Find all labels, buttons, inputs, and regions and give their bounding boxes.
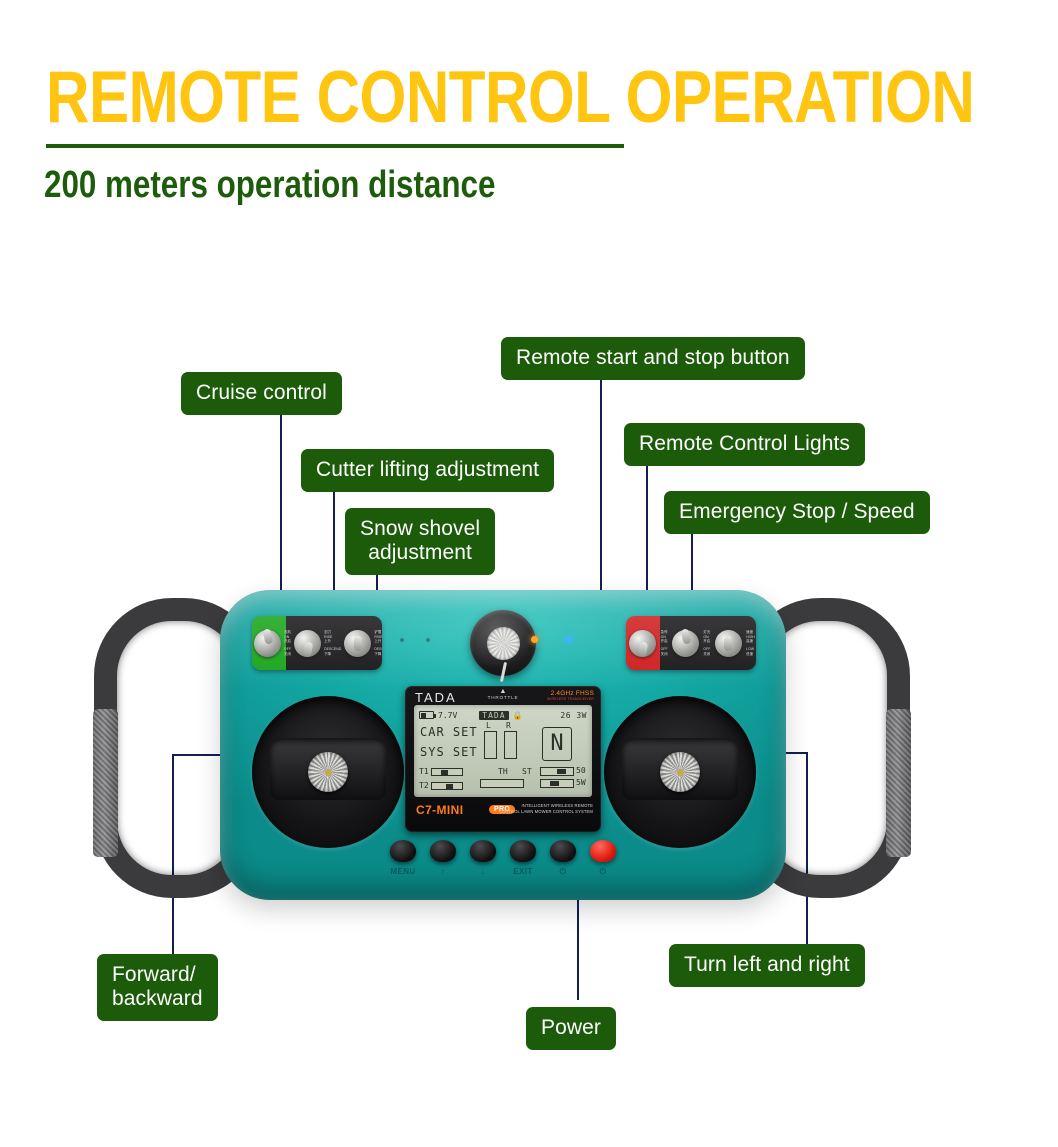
model-name: C7-MINI bbox=[416, 803, 463, 817]
lcd-trim-1: T1 bbox=[419, 767, 463, 776]
lcd-time: 26 3W bbox=[560, 711, 587, 720]
switch-label-cutter: 割刀 RISE 上升 DESCEND 下降 bbox=[324, 630, 341, 656]
battery-icon bbox=[419, 711, 434, 719]
toggle-lever bbox=[724, 636, 732, 651]
button-down-label: ↓ bbox=[470, 867, 496, 876]
lcd-th-track bbox=[480, 779, 524, 788]
switch-label-cruise: 巡航 ON 开启 OFF 关闭 bbox=[284, 630, 291, 656]
button-up-wrap: ↑ bbox=[430, 840, 456, 876]
rf-subtitle: WIRELESS TRANSCEIVER bbox=[547, 697, 594, 701]
toggle-emergency-stop[interactable] bbox=[628, 623, 658, 663]
switch-label-col-5: 灯光 ON 开启 OFF 关闭 bbox=[702, 630, 711, 656]
lock-icon: 🔒 bbox=[513, 711, 523, 720]
button-power[interactable] bbox=[590, 840, 616, 862]
lcd-trim-1-label: T1 bbox=[419, 767, 429, 776]
button-power-label: ⏻ bbox=[590, 867, 616, 877]
button-up-label: ↑ bbox=[430, 867, 456, 876]
lcd-th-label: TH bbox=[498, 767, 508, 776]
button-exit-wrap: EXIT bbox=[510, 840, 536, 876]
lcd-label-right: R bbox=[506, 721, 511, 730]
button-aux-label: ⏻ bbox=[550, 867, 576, 877]
lcd-label-left: L bbox=[486, 721, 491, 730]
lcd-menu-sys-set[interactable]: SYS SET bbox=[420, 745, 478, 759]
brand-logo-tada: TADA bbox=[415, 690, 457, 705]
grip-texture-right bbox=[886, 709, 911, 857]
button-exit-label: EXIT bbox=[510, 867, 536, 876]
callout-remote-start-stop-button[interactable]: Remote start and stop button bbox=[501, 337, 805, 380]
callout-forward-backward[interactable]: Forward/ backward bbox=[97, 954, 218, 1021]
led-indicator-blue bbox=[565, 636, 572, 643]
button-aux-wrap: ⏻ bbox=[550, 840, 576, 877]
lcd-bar-left bbox=[484, 731, 497, 759]
callout-snow-shovel-adjustment[interactable]: Snow shovel adjustment bbox=[345, 508, 495, 575]
switch-label-speed: 速度 HIGH 高速 LOW 低速 bbox=[746, 630, 755, 656]
callout-remote-control-lights[interactable]: Remote Control Lights bbox=[624, 423, 865, 466]
joystick-right-turn[interactable] bbox=[604, 696, 756, 848]
lcd-menu-car-set[interactable]: CAR SET bbox=[420, 725, 478, 739]
remote-controller-device: 巡航 ON 开启 OFF 关闭 割刀 RISE 上升 DESCEND 下降 铲雪… bbox=[92, 580, 912, 925]
button-aux[interactable] bbox=[550, 840, 576, 862]
toggle-cruise-control[interactable] bbox=[254, 623, 281, 663]
throttle-label: THROTTLE bbox=[488, 695, 519, 700]
lcd-st-label: ST bbox=[522, 767, 532, 776]
switch-plate-right: 急停 ON 开启 OFF 关闭 灯光 ON 开启 OFF 关闭 速度 HIGH … bbox=[626, 616, 756, 670]
lcd-trim-2: T2 bbox=[419, 781, 463, 790]
button-power-wrap: ⏻ bbox=[590, 840, 616, 877]
button-menu[interactable] bbox=[390, 840, 416, 862]
vent-dot-2 bbox=[426, 638, 430, 642]
knob-cap bbox=[487, 627, 520, 660]
knob-pointer bbox=[500, 662, 507, 682]
button-row: MENU ↑ ↓ EXIT ⏻ ⏻ bbox=[390, 840, 616, 877]
lcd-trim-2-track bbox=[431, 782, 463, 790]
lcd-status-bar: 7.7V TADA 🔒 26 3W bbox=[419, 709, 587, 721]
switch-label-lights: 灯光 ON 开启 OFF 关闭 bbox=[703, 630, 710, 656]
lcd-st-track-1 bbox=[540, 767, 574, 776]
model-fine-print: INTELLIGENT WIRELESS REMOTE CONTROL LAWN… bbox=[499, 803, 593, 816]
button-menu-label: MENU bbox=[390, 867, 416, 876]
display-panel: TADA ▲ THROTTLE 2.4GHz FHSS WIRELESS TRA… bbox=[405, 686, 601, 832]
header-section: REMOTE CONTROL OPERATION 200 meters oper… bbox=[0, 0, 1058, 230]
lcd-logo-tada: TADA bbox=[479, 711, 508, 720]
grip-texture-left bbox=[93, 709, 118, 857]
lcd-screen[interactable]: 7.7V TADA 🔒 26 3W CAR SET SYS SET L R N … bbox=[414, 705, 592, 797]
switch-label-col-1: 巡航 ON 开启 OFF 关闭 bbox=[283, 630, 292, 656]
toggle-snow-shovel[interactable] bbox=[344, 623, 371, 663]
toggle-lever bbox=[354, 636, 362, 651]
lcd-bar-right bbox=[504, 731, 517, 759]
switch-label-estop: 急停 ON 开启 OFF 关闭 bbox=[661, 630, 668, 656]
switch-label-col-2: 割刀 RISE 上升 DESCEND 下降 bbox=[323, 630, 342, 656]
joystick-knob-right[interactable] bbox=[660, 752, 700, 792]
title-divider bbox=[46, 144, 624, 148]
page-title: REMOTE CONTROL OPERATION bbox=[46, 56, 974, 140]
callout-cruise-control[interactable]: Cruise control bbox=[181, 372, 342, 415]
toggle-speed[interactable] bbox=[713, 623, 743, 663]
lcd-trim-1-track bbox=[431, 768, 463, 776]
joystick-knob-left[interactable] bbox=[308, 752, 348, 792]
callout-cutter-lifting-adjustment[interactable]: Cutter lifting adjustment bbox=[301, 449, 554, 492]
button-down-wrap: ↓ bbox=[470, 840, 496, 876]
lcd-value-right-2: 5W bbox=[576, 778, 586, 787]
page-subtitle: 200 meters operation distance bbox=[44, 162, 495, 206]
lcd-trim-2-label: T2 bbox=[419, 781, 429, 790]
throttle-knob[interactable] bbox=[470, 610, 536, 676]
rf-info: 2.4GHz FHSS WIRELESS TRANSCEIVER bbox=[547, 690, 594, 701]
controller-body: 巡航 ON 开启 OFF 关闭 割刀 RISE 上升 DESCEND 下降 铲雪… bbox=[220, 590, 786, 900]
lcd-st-track-2 bbox=[540, 779, 574, 788]
callout-power[interactable]: Power bbox=[526, 1007, 616, 1050]
button-exit[interactable] bbox=[510, 840, 536, 862]
switch-plate-left: 巡航 ON 开启 OFF 关闭 割刀 RISE 上升 DESCEND 下降 铲雪… bbox=[252, 616, 382, 670]
toggle-cutter-lifting[interactable] bbox=[294, 623, 321, 663]
switch-label-col-6: 速度 HIGH 高速 LOW 低速 bbox=[745, 630, 756, 656]
callout-turn-left-and-right[interactable]: Turn left and right bbox=[669, 944, 865, 987]
joystick-left-forward-backward[interactable] bbox=[252, 696, 404, 848]
switch-label-snow: 铲雪 RISE 上升 DESCEND 下降 bbox=[374, 630, 382, 656]
callout-emergency-stop-speed[interactable]: Emergency Stop / Speed bbox=[664, 491, 930, 534]
button-menu-wrap: MENU bbox=[390, 840, 416, 876]
lcd-gear-indicator: N bbox=[542, 727, 572, 761]
lcd-battery-voltage: 7.7V bbox=[438, 711, 457, 720]
toggle-lights[interactable] bbox=[671, 623, 701, 663]
button-down[interactable] bbox=[470, 840, 496, 862]
throttle-marker: ▲ THROTTLE bbox=[488, 689, 519, 700]
button-up[interactable] bbox=[430, 840, 456, 862]
model-row: C7-MINI PRO INTELLIGENT WIRELESS REMOTE … bbox=[405, 801, 601, 823]
switch-label-col-3: 铲雪 RISE 上升 DESCEND 下降 bbox=[373, 630, 382, 656]
lcd-value-right-1: 50 bbox=[576, 766, 586, 775]
led-indicator-orange bbox=[531, 636, 538, 643]
vent-dot-1 bbox=[400, 638, 404, 642]
brand-row: TADA ▲ THROTTLE 2.4GHz FHSS WIRELESS TRA… bbox=[405, 689, 601, 705]
rf-frequency: 2.4GHz FHSS bbox=[547, 690, 594, 697]
switch-label-col-4: 急停 ON 开启 OFF 关闭 bbox=[660, 630, 669, 656]
